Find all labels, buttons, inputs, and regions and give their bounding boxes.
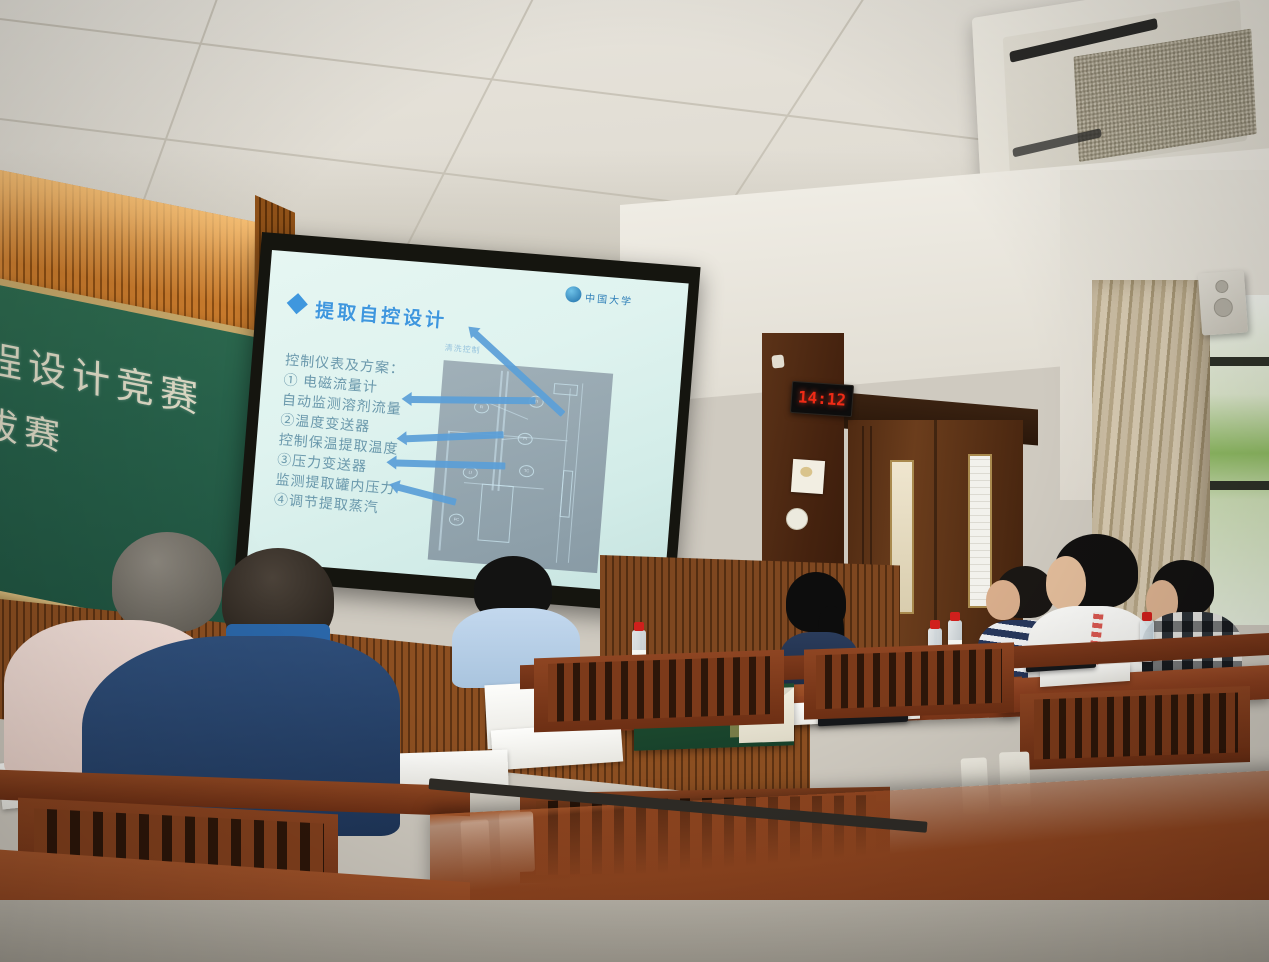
speaker-icon bbox=[1198, 270, 1248, 335]
bottle-cap bbox=[930, 620, 940, 629]
slide-title: 提取自控设计 bbox=[314, 296, 448, 334]
chair-back-slats bbox=[1034, 692, 1238, 759]
bottle-cap bbox=[1142, 612, 1152, 621]
diamond-bullet-icon bbox=[287, 293, 308, 314]
sensor-icon bbox=[771, 354, 784, 368]
university-logo-text: 中国大学 bbox=[585, 289, 634, 308]
projection-screen[interactable]: 提取自控设计 清洗控制 控制仪表及方案： ① 电磁流量计 自动监测溶剂流量 ②温… bbox=[247, 250, 689, 595]
door-glass-panel bbox=[968, 454, 992, 608]
chair-back-slats bbox=[548, 656, 770, 722]
slide-sub-label: 清洗控制 bbox=[444, 342, 481, 356]
annotation-arrow bbox=[411, 396, 536, 404]
floor bbox=[0, 900, 1269, 962]
instrument-bubble: TC bbox=[519, 465, 535, 478]
digital-clock: 14:12 bbox=[790, 381, 854, 417]
ac-grille bbox=[1073, 28, 1256, 162]
ac-inner-panel bbox=[1003, 0, 1247, 178]
clock-time: 14:12 bbox=[791, 382, 853, 416]
classroom-scene: 程设计竞赛 拔赛 提取自控设计 清洗控制 控制仪表及方案： ① 电磁流量计 自动… bbox=[0, 0, 1269, 962]
paper-notice bbox=[791, 459, 825, 494]
bottle-cap bbox=[950, 612, 960, 621]
instrument-bubble: FC bbox=[449, 513, 465, 526]
university-logo-icon bbox=[565, 286, 582, 303]
instrument-bubble: PI bbox=[517, 432, 533, 445]
bottle-cap bbox=[634, 622, 644, 631]
notice-stain bbox=[800, 466, 813, 477]
window bbox=[1205, 295, 1269, 625]
chair-back-slats bbox=[816, 649, 1002, 709]
